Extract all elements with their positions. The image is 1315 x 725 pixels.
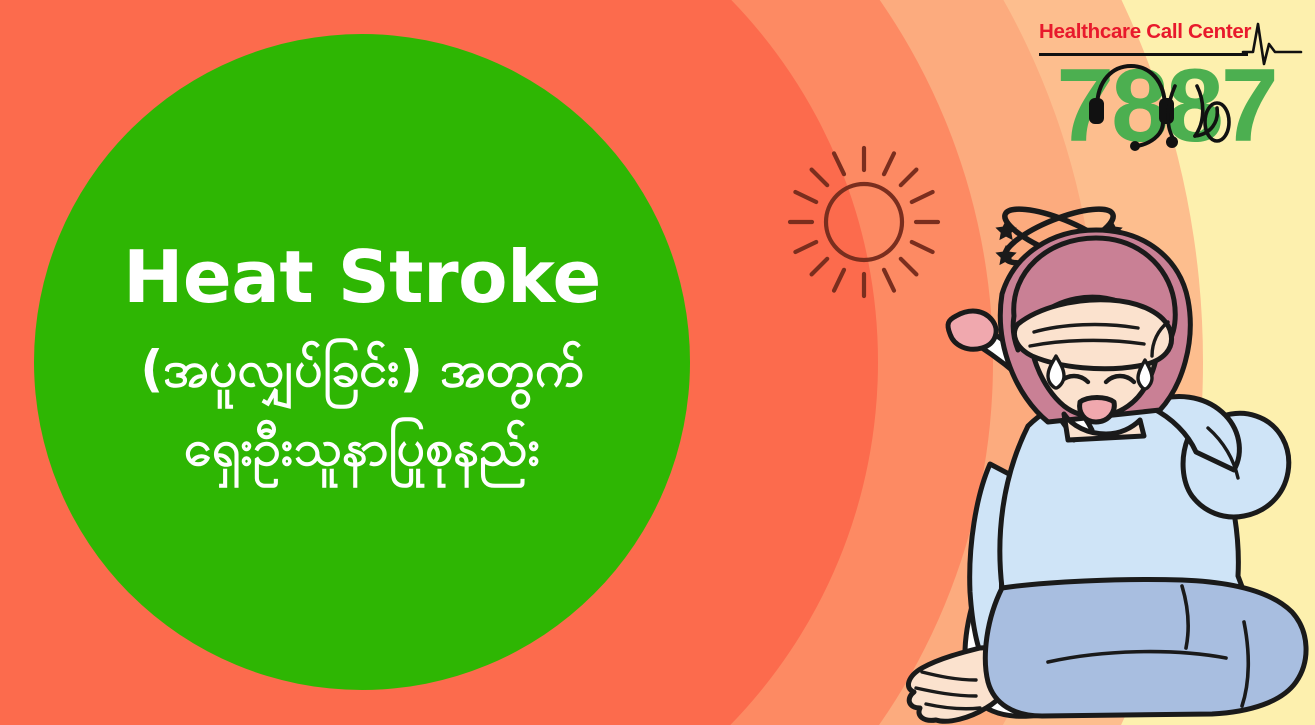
logo-phone-number: 7887 bbox=[1035, 56, 1297, 156]
page-title-english: Heat Stroke bbox=[123, 240, 601, 316]
person-pants bbox=[985, 579, 1306, 716]
page-title-burmese-line-2: ရှေးဦးသူနာပြုစုနည်း bbox=[184, 412, 541, 485]
logo-device-overlay bbox=[1035, 56, 1297, 156]
person-hand-on-forehead bbox=[1014, 300, 1171, 369]
poster-canvas: Heat Stroke (အပူလျှပ်ခြင်း) အတွက် ရှေးဦး… bbox=[0, 0, 1315, 725]
dizzy-person-illustration bbox=[852, 196, 1315, 725]
headline-block: Heat Stroke (အပူလျှပ်ခြင်း) အတွက် ရှေးဦး… bbox=[34, 34, 690, 690]
headset-icon bbox=[1089, 66, 1174, 151]
logo-wordmark: Healthcare Call Center bbox=[1039, 22, 1252, 46]
person-mouth bbox=[1080, 398, 1115, 423]
stethoscope-icon bbox=[1166, 86, 1229, 148]
brand-logo: Healthcare Call Center 7887 bbox=[1035, 22, 1297, 158]
page-title-burmese-line-1: (အပူလျှပ်ခြင်း) အတွက် bbox=[140, 333, 583, 406]
person-towel-knot bbox=[948, 311, 996, 349]
